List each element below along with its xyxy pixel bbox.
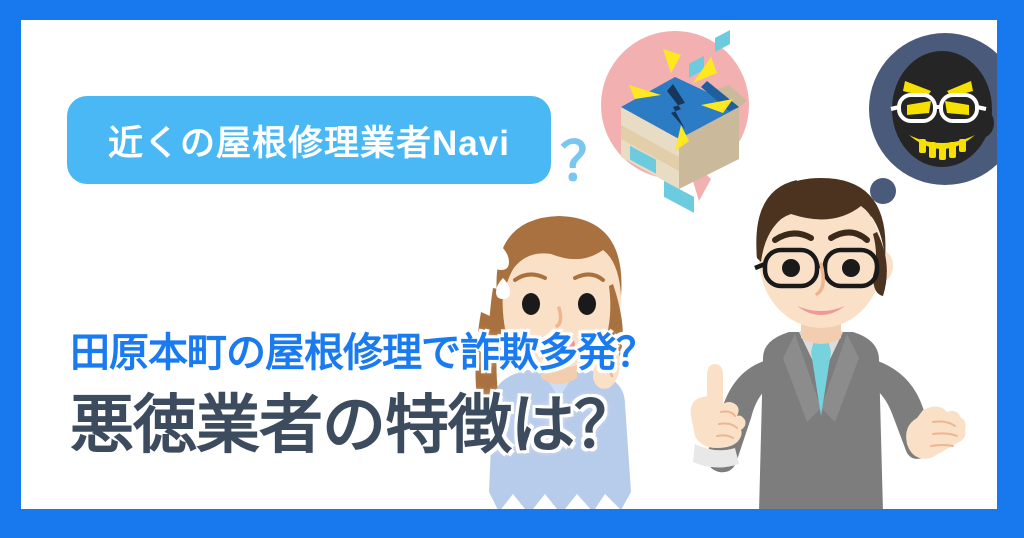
logo-text: 近くの屋根修理業者Navi <box>108 115 510 166</box>
banner-root: 近くの屋根修理業者Navi ？ 田原本町の屋根修理で詐欺多発？ 悪徳業者の特徴は… <box>0 0 1024 538</box>
logo-badge[interactable]: 近くの屋根修理業者Navi <box>67 96 551 184</box>
headline-mainline-text: 悪徳業者の特徴は？ <box>70 389 637 461</box>
explaining-businessman <box>671 172 971 509</box>
banner-canvas: 近くの屋根修理業者Navi ？ 田原本町の屋根修理で詐欺多発？ 悪徳業者の特徴は… <box>21 20 997 509</box>
man-svg <box>671 172 971 509</box>
headline-subline-text: 田原本町の屋根修理で詐欺多発？ <box>70 331 655 375</box>
headline-subline: 田原本町の屋根修理で詐欺多発？ <box>70 320 655 378</box>
headline-mainline: 悪徳業者の特徴は？ <box>70 374 637 466</box>
